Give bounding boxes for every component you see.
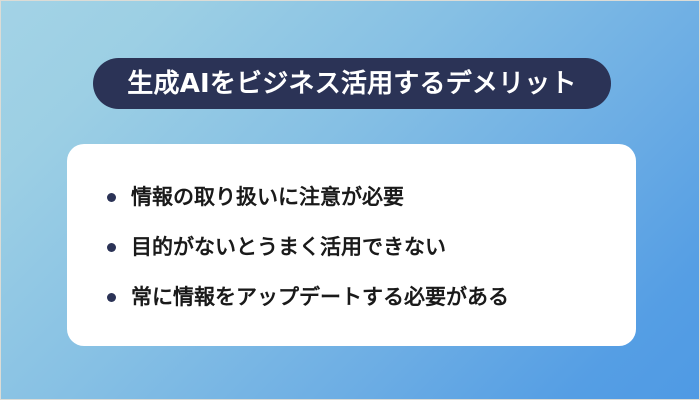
bullet-dot-icon: [107, 293, 116, 302]
bullet-dot-icon: [107, 193, 116, 202]
bullet-dot-icon: [107, 243, 116, 252]
title-pill: 生成AIをビジネス活用するデメリット: [93, 58, 611, 109]
list-item: 情報の取り扱いに注意が必要: [107, 172, 509, 222]
page-title: 生成AIをビジネス活用するデメリット: [127, 71, 576, 97]
list-item: 目的がないとうまく活用できない: [107, 222, 509, 272]
bullet-list: 情報の取り扱いに注意が必要 目的がないとうまく活用できない 常に情報をアップデー…: [107, 172, 509, 322]
list-item: 常に情報をアップデートする必要がある: [107, 272, 509, 322]
list-item-label: 目的がないとうまく活用できない: [131, 237, 446, 258]
content-card: 情報の取り扱いに注意が必要 目的がないとうまく活用できない 常に情報をアップデー…: [67, 144, 636, 346]
list-item-label: 情報の取り扱いに注意が必要: [131, 187, 404, 208]
list-item-label: 常に情報をアップデートする必要がある: [131, 287, 509, 308]
slide-canvas: 生成AIをビジネス活用するデメリット 情報の取り扱いに注意が必要 目的がないとう…: [0, 0, 700, 400]
